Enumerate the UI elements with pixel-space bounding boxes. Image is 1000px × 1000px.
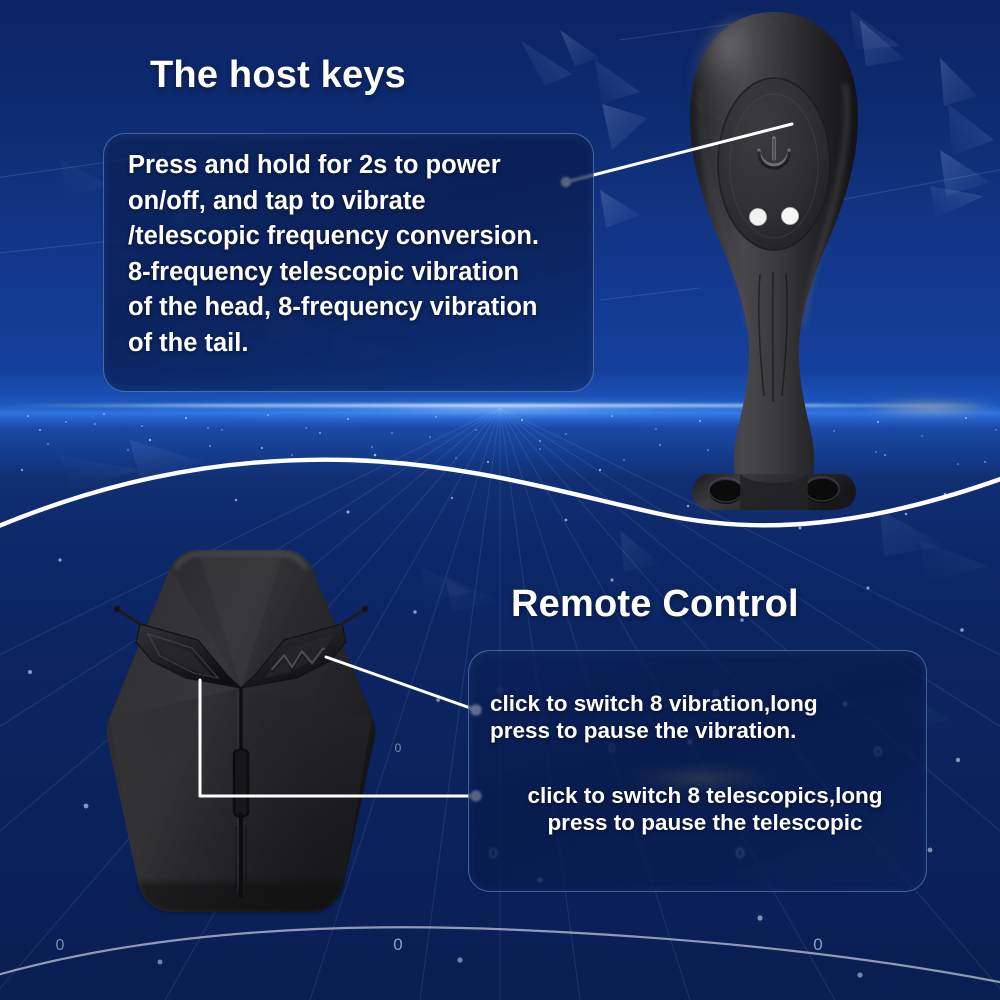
remote-text-panel — [468, 650, 927, 892]
host-heading: The host keys — [150, 54, 406, 97]
remote-callout-text-2: click to switch 8 telescopics,long press… — [487, 782, 923, 836]
remote-callout-text-1: click to switch 8 vibration,long press t… — [490, 690, 920, 744]
wave-divider-bottom — [0, 927, 1000, 986]
wave-divider — [0, 460, 1000, 534]
callout-power-button — [561, 124, 792, 187]
infographic-canvas: 0 0 0 0 0 0 0 0 0 0 0 0 0 — [0, 0, 1000, 1000]
callout-vibration-button — [326, 657, 482, 716]
remote-heading: Remote Control — [511, 583, 799, 626]
host-body-text: Press and hold for 2s to power on/off, a… — [128, 148, 583, 361]
